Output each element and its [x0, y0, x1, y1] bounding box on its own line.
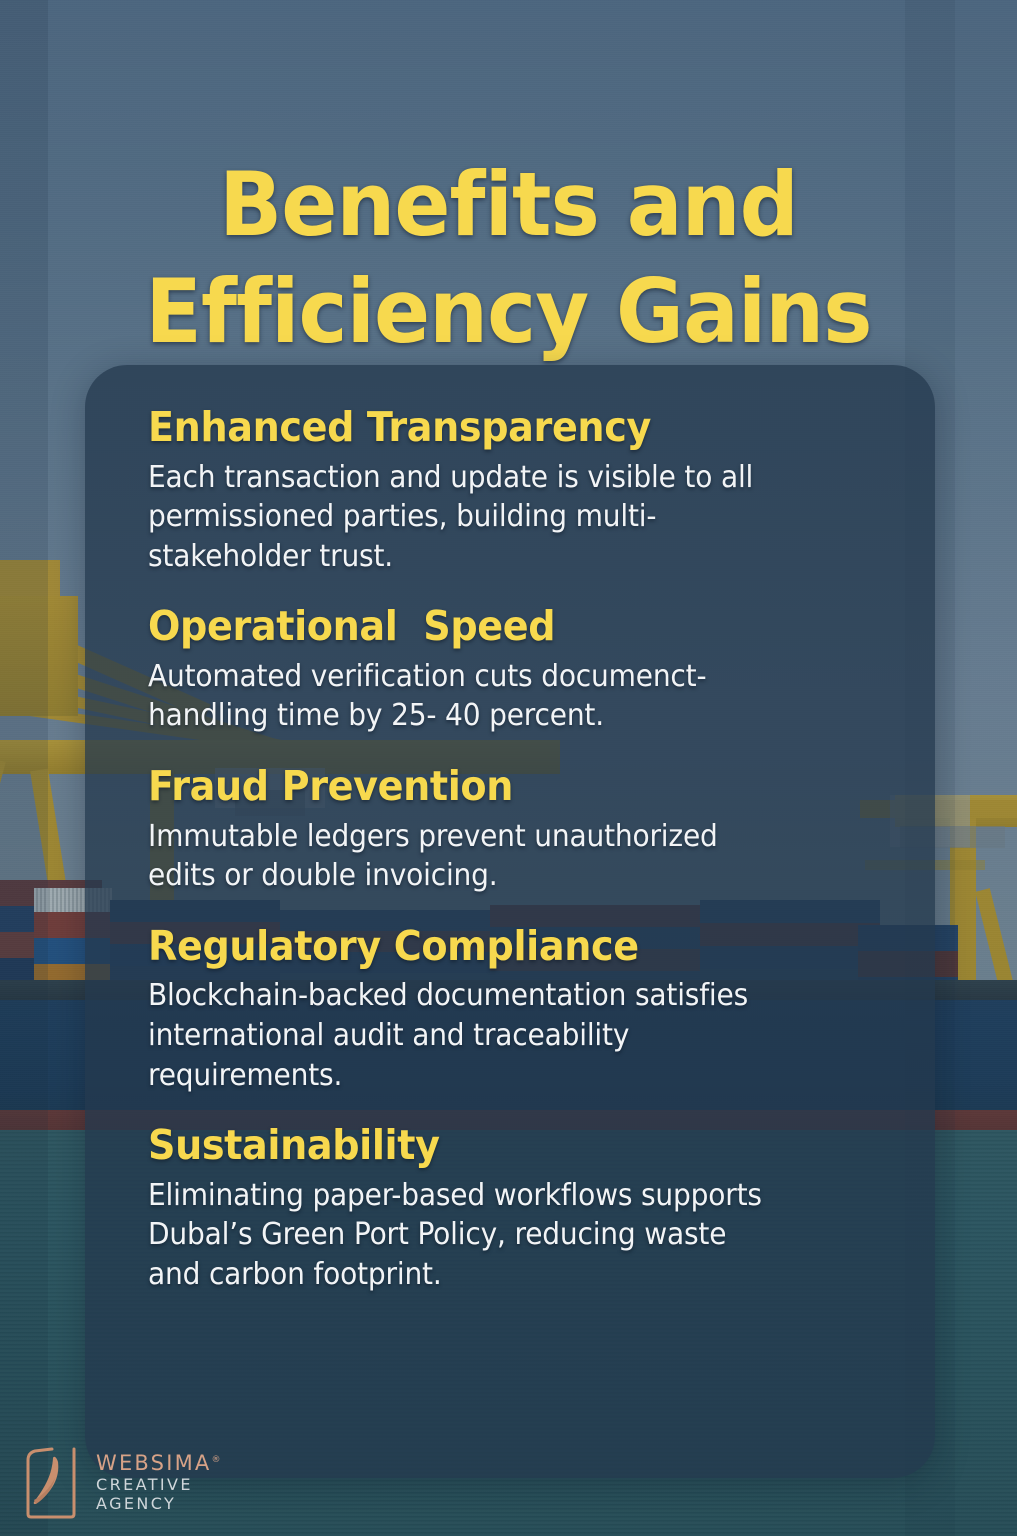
logo-tagline-line1: CREATIVE: [96, 1477, 220, 1493]
benefit-body: Automated verification cuts documenct- h…: [148, 657, 841, 736]
benefit-item-fraud-prevention: Fraud Prevention Immutable ledgers preve…: [148, 763, 889, 896]
benefits-card: Enhanced Transparency Each transaction a…: [85, 365, 935, 1478]
benefits-list: Enhanced Transparency Each transaction a…: [148, 404, 889, 1294]
benefit-body: Eliminating paper-based workflows suppor…: [148, 1176, 841, 1295]
websima-feather-mark-icon: [22, 1446, 80, 1520]
benefit-heading: Regulatory Compliance: [148, 923, 837, 971]
benefit-body: Each transaction and update is visible t…: [148, 458, 841, 577]
page-title: Benefits and Efficiency Gains: [31, 151, 987, 366]
logo-tagline-line2: AGENCY: [96, 1496, 220, 1512]
benefit-heading: Sustainability: [148, 1122, 837, 1170]
websima-logo[interactable]: WEBSIMA® CREATIVE AGENCY: [22, 1446, 220, 1520]
benefit-heading: Operational Speed: [148, 603, 837, 651]
benefit-heading: Fraud Prevention: [148, 763, 837, 811]
benefit-heading: Enhanced Transparency: [148, 404, 837, 452]
benefit-item-regulatory-compliance: Regulatory Compliance Blockchain-backed …: [148, 923, 889, 1095]
benefit-item-sustainability: Sustainability Eliminating paper-based w…: [148, 1122, 889, 1294]
websima-wordmark: WEBSIMA® CREATIVE AGENCY: [96, 1453, 220, 1514]
benefit-body: Blockchain-backed documentation satisfie…: [148, 976, 841, 1095]
benefit-body: Immutable ledgers prevent unauthorized e…: [148, 817, 841, 896]
benefit-item-enhanced-transparency: Enhanced Transparency Each transaction a…: [148, 404, 889, 576]
benefit-item-operational-speed: Operational Speed Automated verification…: [148, 603, 889, 736]
logo-brand-name: WEBSIMA®: [96, 1453, 220, 1474]
poster-canvas: Benefits and Efficiency Gains Enhanced T…: [0, 0, 1017, 1536]
registered-trademark-icon: ®: [211, 1455, 220, 1465]
